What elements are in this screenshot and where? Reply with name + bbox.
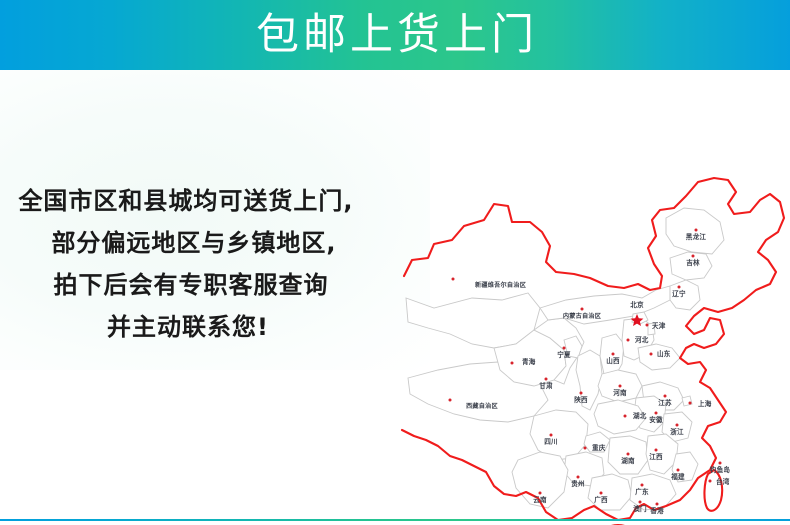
china-map-illustration: 新疆维吾尔自治区西藏自治区青海甘肃宁夏内蒙古自治区陕西山西河北北京天津山东河南辽… <box>398 148 790 525</box>
map-label-吉林: 吉林 <box>686 258 700 267</box>
map-city-dot <box>600 492 603 495</box>
map-label-香港: 香港 <box>649 506 664 515</box>
map-label-澳门: 澳门 <box>633 504 647 513</box>
map-city-dot <box>676 424 679 427</box>
map-label-福建: 福建 <box>670 472 685 481</box>
map-label-江西: 江西 <box>649 452 663 461</box>
map-city-dot <box>539 492 542 495</box>
map-label-内蒙古自治区: 内蒙古自治区 <box>563 312 602 320</box>
map-city-dot <box>655 449 658 452</box>
map-label-浙江: 浙江 <box>670 427 684 436</box>
map-city-dot <box>627 339 630 342</box>
map-city-dot <box>577 476 580 479</box>
map-label-天津: 天津 <box>652 321 666 330</box>
map-label-北京: 北京 <box>630 300 644 309</box>
map-label-江苏: 江苏 <box>658 398 672 407</box>
map-label-陕西: 陕西 <box>574 395 588 404</box>
map-city-dot <box>678 286 681 289</box>
map-label-湖南: 湖南 <box>621 456 635 465</box>
map-city-dot <box>692 255 695 258</box>
map-label-西藏自治区: 西藏自治区 <box>466 402 499 410</box>
map-label-甘肃: 甘肃 <box>539 381 553 390</box>
map-label-广东: 广东 <box>635 487 649 496</box>
map-city-dot <box>650 353 653 356</box>
map-label-上海: 上海 <box>698 399 712 408</box>
map-city-dot <box>580 392 583 395</box>
message-line-3: 拍下后会有专职客服查询 <box>8 264 378 306</box>
map-label-河南: 河南 <box>613 388 627 397</box>
map-label-辽宁: 辽宁 <box>672 289 686 298</box>
map-city-dot <box>627 453 630 456</box>
map-label-广西: 广西 <box>594 495 608 504</box>
header-banner: 包邮上货上门 <box>0 0 790 70</box>
map-label-湖北: 湖北 <box>633 411 647 420</box>
china-map-svg: 新疆维吾尔自治区西藏自治区青海甘肃宁夏内蒙古自治区陕西山西河北北京天津山东河南辽… <box>398 148 790 525</box>
map-city-dot <box>545 378 548 381</box>
map-city-dot <box>689 402 692 405</box>
map-city-dot <box>511 362 514 365</box>
map-label-山西: 山西 <box>606 356 620 365</box>
message-line-2: 部分偏远地区与乡镇地区, <box>8 222 378 264</box>
map-label-云南: 云南 <box>533 495 547 504</box>
map-city-dot <box>563 347 566 350</box>
shipping-message: 全国市区和县城均可送货上门, 部分偏远地区与乡镇地区, 拍下后会有专职客服查询 … <box>8 180 378 348</box>
map-city-dot <box>639 501 642 504</box>
map-label-贵州: 贵州 <box>571 479 585 488</box>
map-label-黑龙江: 黑龙江 <box>686 232 707 241</box>
map-city-dot <box>719 462 722 465</box>
map-city-dot <box>612 353 615 356</box>
message-line-4: 并主动联系您! <box>8 306 378 348</box>
map-city-dot <box>664 395 667 398</box>
map-city-dot <box>452 278 455 281</box>
map-city-dot <box>619 385 622 388</box>
map-city-dot <box>584 447 587 450</box>
map-label-钓鱼岛: 钓鱼岛 <box>710 465 731 474</box>
message-line-1: 全国市区和县城均可送货上门, <box>8 180 378 222</box>
map-city-dot <box>677 469 680 472</box>
map-city-dot <box>581 308 584 311</box>
map-city-dot <box>709 480 712 483</box>
map-city-dot <box>641 484 644 487</box>
map-city-dot <box>695 229 698 232</box>
bottom-divider <box>0 519 790 521</box>
map-city-dot <box>646 324 649 327</box>
map-city-dot <box>449 399 452 402</box>
map-label-新疆维吾尔自治区: 新疆维吾尔自治区 <box>475 281 527 289</box>
map-label-重庆: 重庆 <box>592 443 606 452</box>
promo-banner-page: 包邮上货上门 全国市区和县城均可送货上门, 部分偏远地区与乡镇地区, 拍下后会有… <box>0 0 790 525</box>
map-label-台湾: 台湾 <box>716 477 730 486</box>
taiwan-island-outline <box>704 470 722 511</box>
map-label-四川: 四川 <box>544 438 558 446</box>
map-city-dot <box>624 415 627 418</box>
page-title: 包邮上货上门 <box>252 14 538 57</box>
map-label-青海: 青海 <box>522 357 536 366</box>
map-label-山东: 山东 <box>657 349 671 358</box>
map-city-dot <box>550 434 553 437</box>
map-city-dot <box>655 412 658 415</box>
map-label-安徽: 安徽 <box>649 415 663 424</box>
map-label-宁夏: 宁夏 <box>557 350 571 359</box>
content-area: 全国市区和县城均可送货上门, 部分偏远地区与乡镇地区, 拍下后会有专职客服查询 … <box>0 70 790 520</box>
province-borders <box>406 208 724 510</box>
map-city-dot <box>656 503 659 506</box>
map-label-河北: 河北 <box>635 335 649 344</box>
